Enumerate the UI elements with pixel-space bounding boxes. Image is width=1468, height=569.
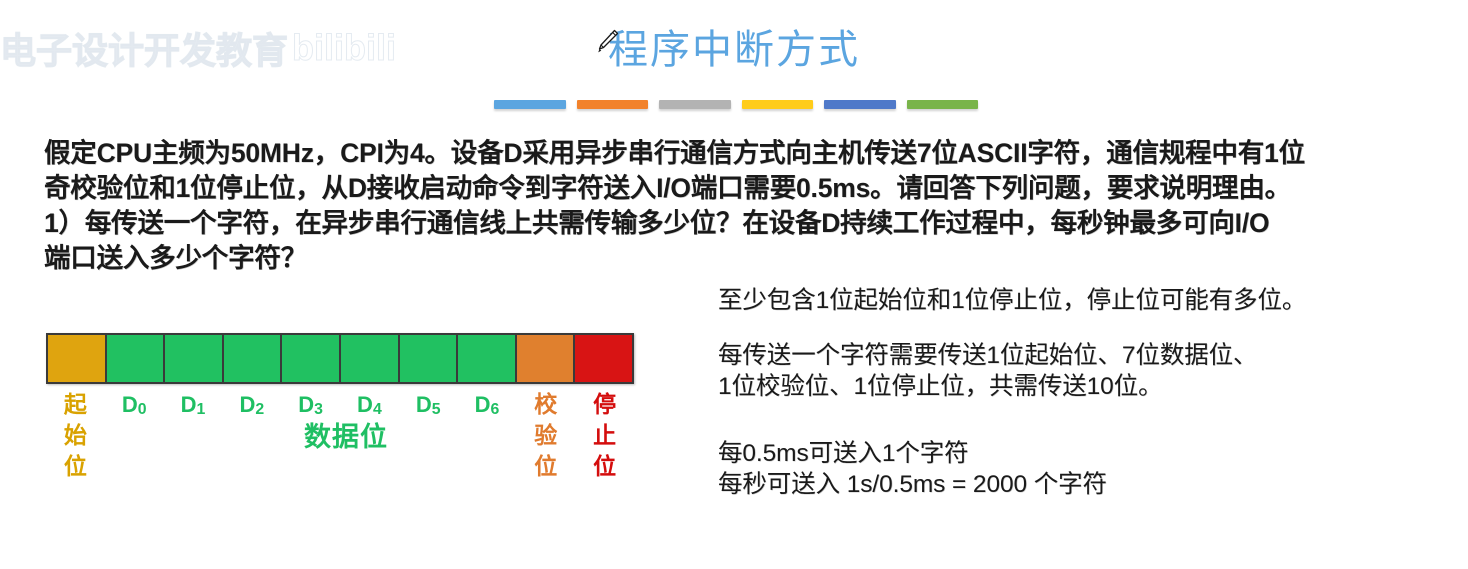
data-bit-cell-d2 — [224, 335, 283, 382]
accent-bar-1 — [494, 100, 566, 109]
data-bit-cell-d6 — [458, 335, 517, 382]
start-bit-label: 起始位 — [46, 389, 105, 482]
data-bit-cell-d3 — [282, 335, 341, 382]
data-bit-cell-d0 — [107, 335, 166, 382]
data-bit-letter: D — [298, 392, 314, 417]
stop-bit-cell — [575, 335, 632, 382]
data-bit-index: 6 — [491, 401, 500, 418]
accent-bar-6 — [907, 100, 979, 109]
data-bit-index: 4 — [373, 401, 382, 418]
stop-bit-label-char: 位 — [575, 451, 634, 482]
data-bit-index: 2 — [255, 401, 264, 418]
answer-panel: 至少包含1位起始位和1位停止位，停止位可能有多位。 每传送一个字符需要传送1位起… — [718, 285, 1458, 500]
data-bit-cell-d5 — [400, 335, 459, 382]
parity-bit-label-char: 位 — [516, 451, 575, 482]
data-bit-cell-d1 — [165, 335, 224, 382]
start-bit-cell — [48, 335, 107, 382]
answer-paragraph-2-line-2: 1位校验位、1位停止位，共需传送10位。 — [718, 371, 1458, 402]
answer-paragraph-2-line-1: 每传送一个字符需要传送1位起始位、7位数据位、 — [718, 340, 1458, 371]
spacer — [718, 402, 1458, 438]
accent-bar-4 — [742, 100, 814, 109]
question-line: 1）每传送一个字符，在异步串行通信线上共需传输多少位？在设备D持续工作过程中，每… — [44, 206, 1444, 241]
data-bit-letter: D — [181, 392, 197, 417]
data-bit-label-d5: D5 — [399, 389, 458, 423]
question-paragraph: 假定CPU主频为50MHz，CPI为4。设备D采用异步串行通信方式向主机传送7位… — [44, 136, 1444, 276]
frame-cell-row — [46, 333, 634, 384]
parity-bit-label-char: 校 — [516, 389, 575, 420]
title-block: 程序中断方式 — [0, 24, 1468, 76]
serial-frame-diagram: 数据位 起始位D0D1D2D3D4D5D6校验位停止位 — [46, 333, 634, 509]
data-bit-cell-d4 — [341, 335, 400, 382]
question-line: 端口送入多少个字符？ — [44, 241, 1444, 276]
data-bit-letter: D — [416, 392, 432, 417]
data-bit-label-d0: D0 — [105, 389, 164, 423]
start-bit-label-char: 位 — [46, 451, 105, 482]
data-bit-index: 1 — [197, 401, 206, 418]
accent-bar-5 — [824, 100, 896, 109]
data-bit-label-d6: D6 — [458, 389, 517, 423]
page-title: 程序中断方式 — [608, 24, 860, 76]
data-bit-letter: D — [122, 392, 138, 417]
parity-bit-label-char: 验 — [516, 420, 575, 451]
question-line: 奇校验位和1位停止位，从D接收启动命令到字符送入I/O端口需要0.5ms。请回答… — [44, 171, 1444, 206]
data-bit-label-d3: D3 — [281, 389, 340, 423]
answer-paragraph-3-line-1: 每0.5ms可送入1个字符 — [718, 438, 1458, 469]
data-bit-label-d1: D1 — [164, 389, 223, 423]
parity-bit-cell — [517, 335, 576, 382]
stop-bit-label-char: 停 — [575, 389, 634, 420]
data-bit-letter: D — [475, 392, 491, 417]
data-bit-letter: D — [239, 392, 255, 417]
data-bit-index: 0 — [138, 401, 147, 418]
stop-bit-label: 停止位 — [575, 389, 634, 482]
data-bit-index: 5 — [432, 401, 441, 418]
answer-paragraph-1: 至少包含1位起始位和1位停止位，停止位可能有多位。 — [718, 285, 1458, 316]
data-bit-label-d2: D2 — [222, 389, 281, 423]
data-bit-letter: D — [357, 392, 373, 417]
stop-bit-label-char: 止 — [575, 420, 634, 451]
accent-bar-2 — [577, 100, 649, 109]
slide-canvas: 电子设计开发教育 bilibili 程序中断方式 假定CPU主频为50MHz，C… — [0, 0, 1468, 569]
data-bits-caption: 数据位 — [216, 420, 476, 454]
data-bit-index: 3 — [314, 401, 323, 418]
answer-paragraph-3-line-2: 每秒可送入 1s/0.5ms = 2000 个字符 — [718, 469, 1458, 500]
accent-bars — [494, 100, 978, 109]
data-bit-label-d4: D4 — [340, 389, 399, 423]
parity-bit-label: 校验位 — [516, 389, 575, 482]
frame-label-row: 数据位 起始位D0D1D2D3D4D5D6校验位停止位 — [46, 389, 634, 509]
question-line: 假定CPU主频为50MHz，CPI为4。设备D采用异步串行通信方式向主机传送7位… — [44, 136, 1444, 171]
spacer — [718, 316, 1458, 340]
start-bit-label-char: 始 — [46, 420, 105, 451]
start-bit-label-char: 起 — [46, 389, 105, 420]
accent-bar-3 — [659, 100, 731, 109]
